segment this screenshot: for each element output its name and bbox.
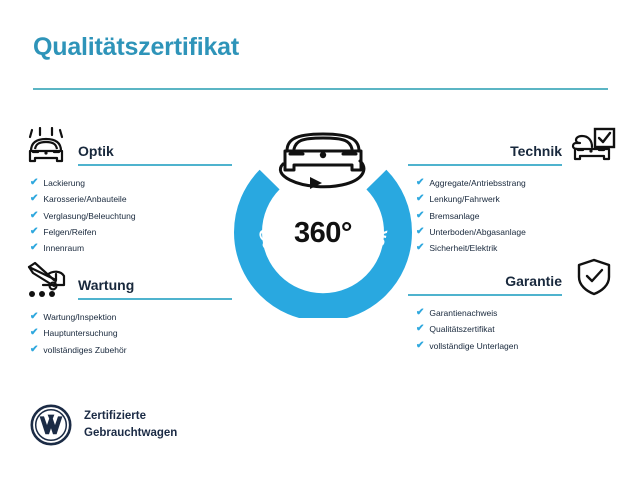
list-item: ✔vollständige Unterlagen [416,338,618,354]
shield-check-icon [570,256,618,298]
check-icon: ✔ [30,243,38,253]
checklist-optik: ✔Lackierung ✔Karosserie/Anbauteile ✔Verg… [22,175,232,257]
section-optik: Optik ✔Lackierung ✔Karosserie/Anbauteile… [22,126,232,257]
list-item-label: Garantienachweis [429,305,497,321]
list-item-label: Innenraum [43,240,84,256]
check-icon: ✔ [416,341,424,351]
section-title-garantie: Garantie [408,274,570,294]
car-checkbox-icon [570,126,618,168]
list-item: ✔vollständiges Zubehör [30,342,232,358]
page-title: Qualitätszertifikat [33,33,239,62]
footer-brand: Zertifizierte Gebrauchtwagen [30,404,177,446]
section-technik: Technik ✔Aggregate/Antriebsstrang ✔Lenku… [408,126,618,257]
list-item-label: Qualitätszertifikat [429,321,494,337]
list-item: ✔Unterboden/Abgasanlage [416,224,618,240]
list-item: ✔Garantienachweis [416,305,618,321]
list-item-label: Lackierung [43,175,85,191]
footer-text: Zertifizierte Gebrauchtwagen [84,408,177,441]
list-item-label: vollständiges Zubehör [43,342,126,358]
check-icon: ✔ [30,328,38,338]
checklist-wartung: ✔Wartung/Inspektion ✔Hauptuntersuchung ✔… [22,309,232,358]
list-item: ✔Aggregate/Antriebsstrang [416,175,618,191]
list-item: ✔Felgen/Reifen [30,224,232,240]
check-icon: ✔ [30,194,38,204]
list-item: ✔Verglasung/Beleuchtung [30,208,232,224]
car-shine-icon [22,126,70,168]
list-item-label: Unterboden/Abgasanlage [429,224,525,240]
footer-line-2: Gebrauchtwagen [84,425,177,442]
list-item: ✔Qualitätszertifikat [416,321,618,337]
section-divider-technik [408,164,562,166]
list-item-label: Lenkung/Fahrwerk [429,191,499,207]
list-item: ✔Hauptuntersuchung [30,325,232,341]
list-item-label: vollständige Unterlagen [429,338,518,354]
check-icon: ✔ [30,227,38,237]
check-icon: ✔ [30,211,38,221]
title-divider [33,88,608,90]
list-item-label: Bremsanlage [429,208,479,224]
list-item-label: Sicherheit/Elektrik [429,240,497,256]
list-item-label: Hauptuntersuchung [43,325,117,341]
badge-degrees: 360° [228,217,418,250]
list-item-label: Wartung/Inspektion [43,309,116,325]
section-title-optik: Optik [70,144,232,164]
list-item-label: Aggregate/Antriebsstrang [429,175,525,191]
car-service-icon [22,260,70,302]
list-item: ✔Wartung/Inspektion [30,309,232,325]
check-icon: ✔ [416,324,424,334]
list-item: ✔Lenkung/Fahrwerk [416,191,618,207]
section-title-technik: Technik [408,144,570,164]
section-divider-garantie [408,294,562,296]
check-icon: ✔ [30,345,38,355]
certificate-page: Qualitätszertifikat [0,0,640,480]
car-front-rotate-icon [280,134,364,189]
badge-360-gebrauchtwagen-check: Gebrauchtwagen-Check 360° [228,113,418,318]
list-item: ✔Karosserie/Anbauteile [30,191,232,207]
footer-line-1: Zertifizierte [84,408,177,425]
section-divider-optik [78,164,232,166]
list-item: ✔Lackierung [30,175,232,191]
list-item: ✔Bremsanlage [416,208,618,224]
checklist-technik: ✔Aggregate/Antriebsstrang ✔Lenkung/Fahrw… [408,175,618,257]
check-icon: ✔ [30,312,38,322]
volkswagen-logo [30,404,72,446]
section-title-wartung: Wartung [70,278,232,298]
checklist-garantie: ✔Garantienachweis ✔Qualitätszertifikat ✔… [408,305,618,354]
list-item-label: Karosserie/Anbauteile [43,191,126,207]
list-item: ✔Innenraum [30,240,232,256]
list-item-label: Verglasung/Beleuchtung [43,208,135,224]
check-icon: ✔ [30,178,38,188]
section-garantie: Garantie ✔Garantienachweis ✔Qualitätszer… [408,256,618,354]
section-wartung: Wartung ✔Wartung/Inspektion ✔Hauptunters… [22,260,232,358]
section-divider-wartung [78,298,232,300]
list-item: ✔Sicherheit/Elektrik [416,240,618,256]
list-item-label: Felgen/Reifen [43,224,96,240]
